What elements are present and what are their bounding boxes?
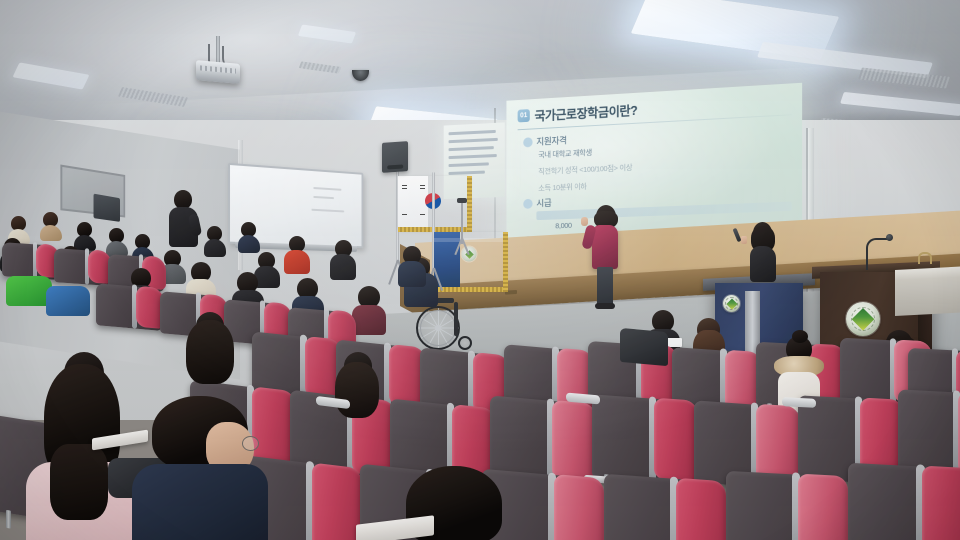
seat[interactable] [726,471,846,540]
bullet-label: 시급 [536,196,551,209]
backpack [620,328,668,366]
ceiling-projector [196,60,240,84]
bullet-label: 지원자격 [536,133,566,147]
audience-member-long-hair [182,312,238,396]
bullet-dot-icon [523,137,532,147]
mc-speaker [748,222,778,282]
university-emblem-icon [846,302,880,336]
torso [330,254,356,280]
projected-text-line [449,130,496,135]
wheelchair-caster [458,336,472,350]
microphone-icon [886,234,893,241]
audience-member [204,226,226,254]
seat[interactable] [96,283,162,331]
seat[interactable] [848,463,960,540]
mc-hand [741,236,747,244]
torso [352,305,386,335]
audience-member-red-jacket [284,236,310,270]
audience-member [40,212,62,238]
wheelchair-pushrim [420,310,456,346]
slide-number-badge: 01 [518,109,530,122]
torso [132,464,268,540]
microphone-tripod [452,202,472,252]
presenter-legs [597,267,613,305]
audience-member [330,240,356,274]
audience-member [238,222,260,250]
wall-speaker [382,141,408,173]
lectern-microphone-stand [866,238,892,270]
torso [398,261,426,287]
seat-cushion [654,398,698,482]
projected-text-line [449,154,497,159]
seat-cushion [676,478,726,540]
projected-text-line [449,138,498,143]
hair-bun [792,330,808,343]
seat[interactable] [54,248,110,286]
microphone-icon [457,198,467,203]
mc-body [750,246,776,282]
slide-title: 국가근로장학금이란? [534,100,637,125]
bullet-dot-icon [523,198,532,208]
torso [40,225,62,241]
wall-notice-board [94,194,120,222]
auditorium-scene: 01 국가근로장학금이란? 지원자격 국내 대학교 재학생 직전학기 성적 <1… [0,0,960,540]
torso [238,235,260,253]
torso [204,239,226,257]
faucet-icon [918,252,932,264]
audience-member-glasses-navy [132,396,268,540]
audience-member [398,246,426,282]
audience-member [106,228,128,254]
projected-text-line [449,162,490,167]
presenter-shoes [595,303,615,309]
long-hair-front [50,444,108,520]
whiteboard-marking [314,196,334,199]
seat-cushion [922,466,960,540]
audience-member [74,222,96,248]
audience-member [330,352,384,424]
torso [46,286,90,316]
flag-cloth [398,176,428,228]
presenter-hand [581,217,588,226]
audience-member [352,286,386,330]
seat-cushion [552,400,596,483]
whiteboard-marking [311,209,344,213]
seat-armrest [782,397,816,408]
audience-member-blue-jacket [46,284,90,316]
seat-cushion [554,474,604,540]
seat[interactable] [604,474,724,540]
seat[interactable] [592,394,696,483]
wheelchair-frame [454,302,458,336]
university-emblem-icon [723,295,740,312]
back-counter-front [895,276,960,316]
presenter-jacket [592,225,618,269]
eyeglasses-icon [242,436,259,451]
torso [284,250,310,274]
long-hair [335,362,379,418]
presenter [592,205,628,310]
seat-cushion [798,474,848,540]
flag-fringe [503,232,508,292]
seat-cushion [312,462,362,540]
seat-leg [6,510,11,529]
projected-text-line [449,146,494,151]
long-hair [186,320,234,384]
whiteboard-marking [314,187,342,191]
